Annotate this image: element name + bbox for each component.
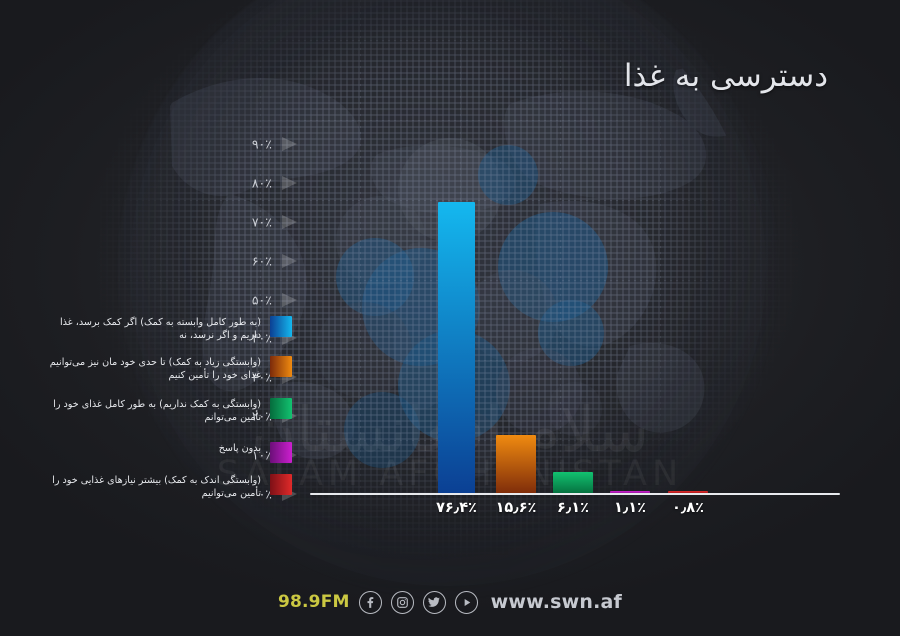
twitter-icon[interactable] xyxy=(423,591,446,614)
legend-swatch-icon xyxy=(270,356,292,377)
y-axis-tick-marker xyxy=(282,254,297,268)
legend-item-label: (وابستگی به کمک نداریم) به طور کامل غذای… xyxy=(49,398,261,424)
y-axis-tick-label: ۸۰٪ xyxy=(252,175,272,190)
y-axis-tick-marker xyxy=(282,293,297,307)
bar-label-3: ۶٫۱٪ xyxy=(557,500,589,516)
footer-bar: 98.9FM www.swn.af xyxy=(0,586,900,618)
page-title: دسترسی به غذا xyxy=(624,58,828,94)
facebook-icon[interactable] xyxy=(359,591,382,614)
bar-label-5: ۰٫۸٪ xyxy=(672,500,704,516)
legend-swatch-icon xyxy=(270,474,292,495)
bar-label-4: ۱٫۱٪ xyxy=(614,500,646,516)
bar-3 xyxy=(553,472,593,495)
website-url[interactable]: www.swn.af xyxy=(491,591,622,613)
legend-item-5[interactable]: (وابستگی اندک به کمک) بیشتر نیازهای غذای… xyxy=(40,474,292,500)
legend-swatch-icon xyxy=(270,316,292,337)
bar-label-2: ۱۵٫۶٪ xyxy=(496,500,537,516)
bar-label-1: ۷۶٫۴٪ xyxy=(436,500,477,516)
radio-frequency-label: 98.9FM xyxy=(278,592,350,612)
bar-chart-plot xyxy=(310,150,840,495)
y-axis-tick-label: ۹۰٪ xyxy=(252,137,272,152)
legend-item-4[interactable]: بدون پاسخ xyxy=(40,442,292,463)
legend-item-1[interactable]: (به طور کامل وابسته به کمک) اگر کمک برسد… xyxy=(40,316,292,342)
y-axis-tick-label: ۷۰٪ xyxy=(252,214,272,229)
legend-item-label: (وابستگی اندک به کمک) بیشتر نیازهای غذای… xyxy=(49,474,261,500)
bar-2 xyxy=(496,435,536,495)
y-axis-tick-marker xyxy=(282,215,297,229)
y-axis-tick-marker xyxy=(282,176,297,190)
youtube-icon[interactable] xyxy=(455,591,478,614)
legend-swatch-icon xyxy=(270,398,292,419)
legend-swatch-icon xyxy=(270,442,292,463)
legend-item-2[interactable]: (وابستگی زیاد به کمک) تا حدی خود مان نیز… xyxy=(40,356,292,382)
bar-1 xyxy=(438,202,475,495)
infographic-canvas: سلام افغانستان SALAM AFGHANISTAN دسترسی … xyxy=(0,0,900,636)
legend-item-label: (وابستگی زیاد به کمک) تا حدی خود مان نیز… xyxy=(49,356,261,382)
legend-item-label: (به طور کامل وابسته به کمک) اگر کمک برسد… xyxy=(49,316,261,342)
legend-item-3[interactable]: (وابستگی به کمک نداریم) به طور کامل غذای… xyxy=(40,398,292,424)
axis-baseline xyxy=(310,493,840,495)
legend-item-label: بدون پاسخ xyxy=(49,442,261,455)
y-axis-tick-label: ۵۰٪ xyxy=(252,292,272,307)
instagram-icon[interactable] xyxy=(391,591,414,614)
y-axis-tick-label: ۶۰٪ xyxy=(252,253,272,268)
y-axis-tick-marker xyxy=(282,137,297,151)
